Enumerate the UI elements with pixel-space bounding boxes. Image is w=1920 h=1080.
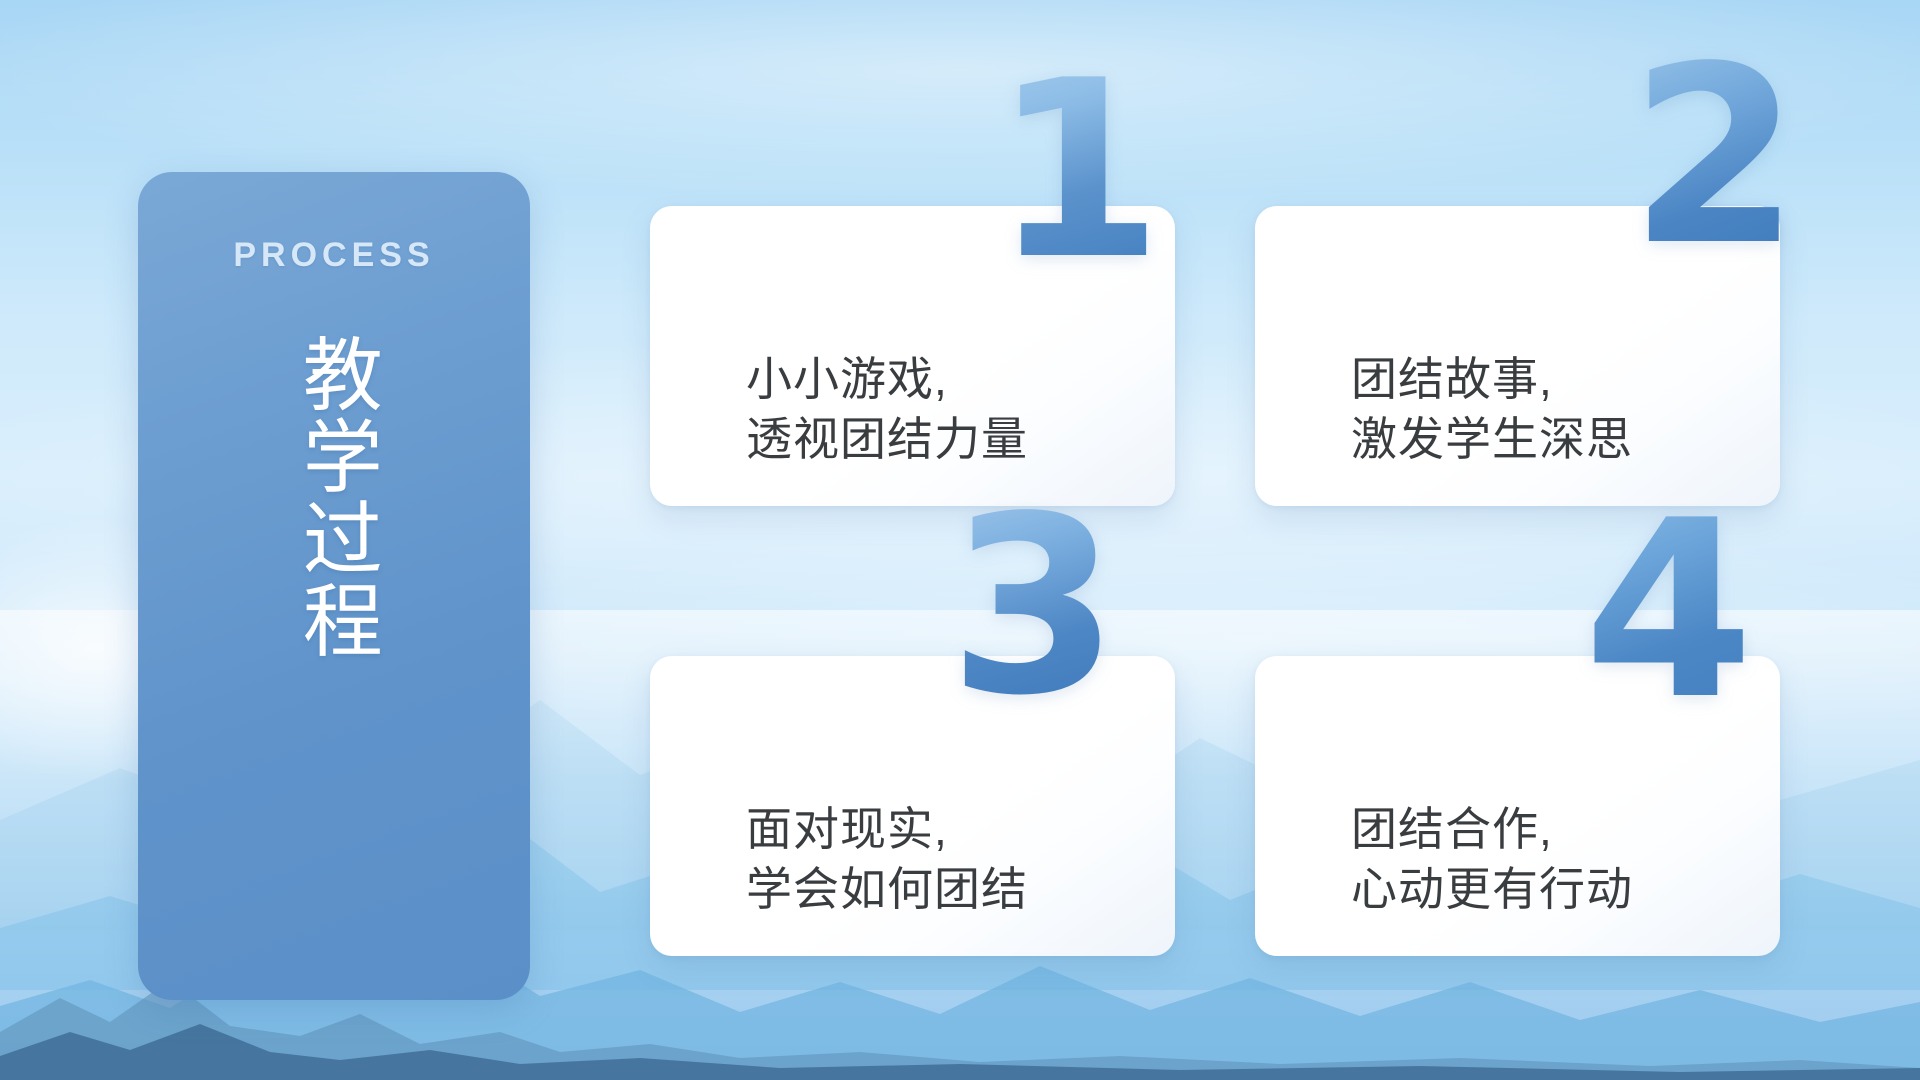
process-steps-grid: 小小游戏, 透视团结力量 1 团结故事, 激发学生深思 2 面对现实, 学会如何… (650, 206, 1780, 996)
process-eyebrow-label: PROCESS (233, 236, 434, 275)
process-step-3[interactable]: 面对现实, 学会如何团结 3 (650, 656, 1175, 956)
step-card-text: 团结合作, 心动更有行动 (1351, 800, 1633, 920)
process-step-4[interactable]: 团结合作, 心动更有行动 4 (1255, 656, 1780, 956)
process-step-1[interactable]: 小小游戏, 透视团结力量 1 (650, 206, 1175, 506)
step-number-badge: 2 (1630, 34, 1794, 279)
step-number-badge: 3 (949, 484, 1113, 729)
step-card-text: 小小游戏, 透视团结力量 (746, 350, 1028, 470)
step-number-badge: 1 (993, 48, 1157, 293)
process-panel: PROCESS 教学过程 (138, 172, 530, 1000)
page-title: 教学过程 (285, 333, 383, 661)
step-card-text: 面对现实, 学会如何团结 (746, 800, 1028, 920)
step-number-badge: 4 (1584, 488, 1748, 733)
process-step-2[interactable]: 团结故事, 激发学生深思 2 (1255, 206, 1780, 506)
step-card-text: 团结故事, 激发学生深思 (1351, 350, 1633, 470)
